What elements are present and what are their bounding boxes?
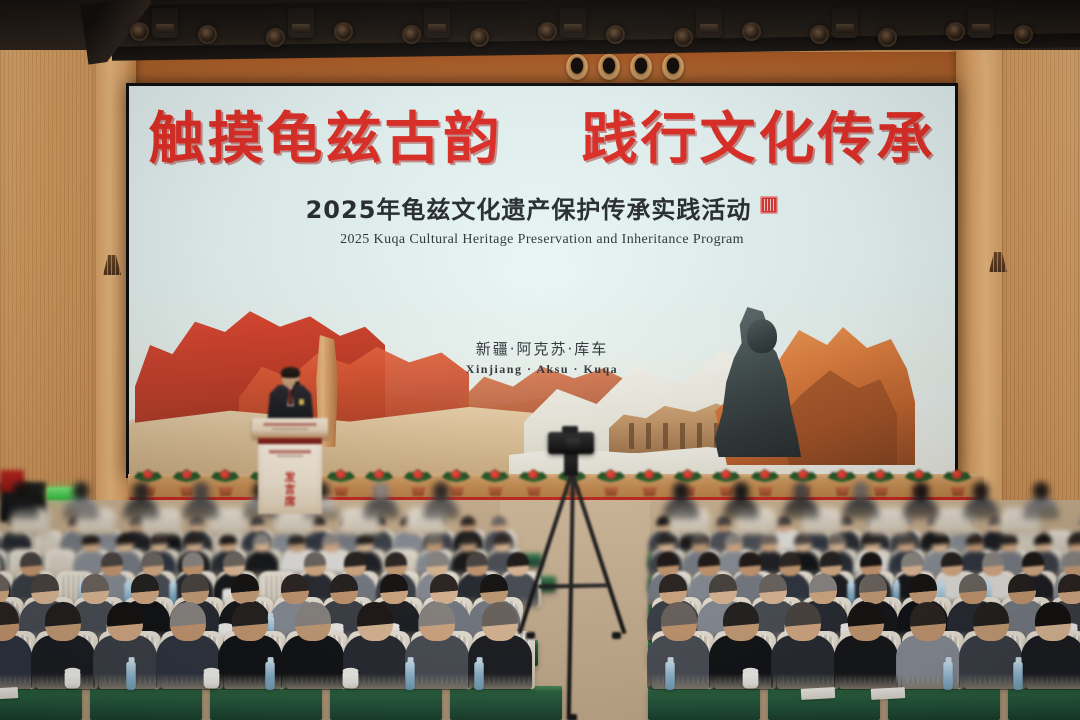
stage-par-light-icon <box>968 8 994 38</box>
audience-person-back-row <box>64 482 98 516</box>
person-head <box>1035 602 1071 641</box>
red-seal-stamp-icon <box>760 196 778 214</box>
person-head <box>150 533 168 552</box>
stage-par-light-icon <box>832 8 858 38</box>
person-head <box>101 552 123 576</box>
audience-table <box>90 686 202 720</box>
screen-subtitle-cn-row: 2025年龟兹文化遗产保护传承实践活动 <box>129 190 955 225</box>
ceiling-spotlight-icon <box>266 28 285 47</box>
person-body <box>183 497 219 519</box>
audience-person-back-row <box>784 482 818 516</box>
audience-person-back-row <box>4 482 38 516</box>
person-head <box>430 574 458 604</box>
person-head <box>482 602 518 641</box>
person-head <box>426 552 448 576</box>
person-head <box>181 574 209 604</box>
speaker-podium: 发 言 席 <box>252 418 328 514</box>
person-head <box>20 552 42 576</box>
person-head <box>461 516 476 532</box>
person-head <box>759 574 787 604</box>
person-body <box>63 497 99 519</box>
person-head <box>863 533 881 552</box>
person-head <box>691 533 709 552</box>
person-head <box>13 482 29 499</box>
person-head <box>480 574 508 604</box>
microphone-icon <box>295 381 300 386</box>
person-body <box>903 497 939 519</box>
person-head <box>848 602 884 641</box>
ceiling-spotlight-icon <box>198 25 217 44</box>
stage-potted-plant <box>479 468 511 496</box>
person-head <box>809 574 837 604</box>
audience-person <box>962 602 1019 689</box>
person-head <box>793 482 809 499</box>
audience-person-back-row <box>844 482 878 516</box>
ceiling-spotlight-icon <box>674 28 693 47</box>
person-head <box>657 533 675 552</box>
person-body <box>363 497 399 519</box>
wall-sconce-icon-right <box>989 252 1007 272</box>
person-head <box>170 602 206 641</box>
screen-location-cn: 新疆·阿克苏·库车 <box>129 338 955 359</box>
person-body <box>0 635 32 690</box>
audience-person-back-row <box>904 482 938 516</box>
person-head <box>491 516 506 532</box>
person-head <box>1008 574 1036 604</box>
stage-par-light-icon <box>152 8 178 38</box>
person-body <box>723 497 759 519</box>
person-head <box>659 574 687 604</box>
water-bottle <box>405 662 414 690</box>
person-body <box>423 497 459 519</box>
water-bottle <box>1013 662 1022 690</box>
person-head <box>231 574 259 604</box>
person-head <box>1063 552 1080 576</box>
person-head <box>661 602 697 641</box>
person-head <box>779 552 801 576</box>
stage-par-light-icon <box>288 8 314 38</box>
person-head <box>909 574 937 604</box>
ceiling-spotlight-icon <box>130 22 149 41</box>
person-head <box>73 482 89 499</box>
person-head <box>219 533 237 552</box>
person-head <box>820 552 842 576</box>
person-head <box>116 533 134 552</box>
audience-table <box>330 686 442 720</box>
person-head <box>193 482 209 499</box>
person-body <box>31 635 95 690</box>
audience-person <box>650 602 707 689</box>
person-head <box>0 552 1 576</box>
person-head <box>81 574 109 604</box>
water-bottle <box>665 662 674 690</box>
ceiling-spotlight-icon <box>742 22 761 41</box>
audience-table <box>648 686 760 720</box>
audience-person <box>284 602 341 689</box>
person-body <box>843 497 879 519</box>
audience-person <box>409 602 466 689</box>
person-head <box>0 574 9 604</box>
person-body <box>405 635 469 690</box>
person-head <box>931 533 949 552</box>
person-head <box>673 482 689 499</box>
stage-par-light-icon <box>696 8 722 38</box>
person-head <box>966 533 984 552</box>
person-head <box>973 482 989 499</box>
conference-hall-photo: 触摸龟兹古韵 践行文化传承 2025年龟兹文化遗产保护传承实践活动 2025 K… <box>0 0 1080 720</box>
person-body <box>281 635 345 690</box>
person-head <box>657 552 679 576</box>
person-body <box>647 635 711 690</box>
person-head <box>466 552 488 576</box>
person-head <box>373 482 389 499</box>
audience-person-back-row <box>364 482 398 516</box>
audience-person <box>837 602 894 689</box>
person-head <box>698 552 720 576</box>
person-head <box>941 552 963 576</box>
person-body <box>1021 635 1080 690</box>
person-head <box>253 533 271 552</box>
person-head <box>322 533 340 552</box>
person-head <box>385 552 407 576</box>
person-head <box>295 602 331 641</box>
person-body <box>709 635 773 690</box>
led-stage-screen: 触摸龟兹古韵 践行文化传承 2025年龟兹文化遗产保护传承实践活动 2025 K… <box>126 83 958 478</box>
person-head <box>344 552 366 576</box>
wall-sconce-icon-left <box>103 255 121 275</box>
ceiling-spotlight-icon <box>334 22 353 41</box>
audience-person-back-row <box>724 482 758 516</box>
person-head <box>1000 533 1018 552</box>
person-head <box>380 574 408 604</box>
ceiling-spotlight-icon <box>878 28 897 47</box>
podium-logo <box>267 450 313 460</box>
person-head <box>897 533 915 552</box>
person-head <box>709 574 737 604</box>
audience-person <box>775 602 832 689</box>
person-head <box>723 602 759 641</box>
audience-person-back-row <box>184 482 218 516</box>
person-head <box>223 552 245 576</box>
person-head <box>433 482 449 499</box>
screen-location-en: Xinjiang · Aksu · Kuqa <box>129 362 955 377</box>
ceiling-spotlight-icon <box>810 25 829 44</box>
person-head <box>1033 482 1049 499</box>
person-head <box>185 533 203 552</box>
water-bottle <box>474 662 483 690</box>
ceiling-spotlight-icon <box>538 22 557 41</box>
water-bottle <box>266 662 275 690</box>
ceiling-speaker-icon <box>566 54 588 80</box>
audience-person <box>1024 602 1080 689</box>
podium-sign-fayanxi: 发 言 席 <box>278 470 302 510</box>
ceiling-spotlight-icon <box>606 25 625 44</box>
person-head <box>1022 552 1044 576</box>
video-camera-tripod <box>520 432 626 720</box>
video-camera-icon <box>548 432 594 454</box>
person-head <box>142 552 164 576</box>
paper-cup <box>742 671 758 688</box>
audience-person <box>0 602 29 689</box>
person-head <box>425 533 443 552</box>
water-bottle <box>944 662 953 690</box>
audience-person-back-row <box>1024 482 1058 516</box>
water-bottle <box>126 662 135 690</box>
screen-subtitle-cn: 2025年龟兹文化遗产保护传承实践活动 <box>306 196 752 224</box>
person-head <box>1034 533 1052 552</box>
person-head <box>860 552 882 576</box>
person-body <box>1023 497 1059 519</box>
person-head <box>910 602 946 641</box>
screen-main-title: 触摸龟兹古韵 践行文化传承 <box>129 112 955 168</box>
conference-booklet <box>801 687 836 700</box>
person-head <box>982 552 1004 576</box>
person-head <box>973 602 1009 641</box>
person-body <box>663 497 699 519</box>
person-head <box>288 533 306 552</box>
screen-location-block: 新疆·阿克苏·库车 Xinjiang · Aksu · Kuqa <box>129 338 955 377</box>
person-head <box>760 533 778 552</box>
person-head <box>1068 533 1080 552</box>
conference-booklet <box>871 687 906 700</box>
person-head <box>131 574 159 604</box>
person-head <box>959 574 987 604</box>
ceiling-speaker-icon <box>598 54 620 80</box>
person-head <box>281 574 309 604</box>
person-head <box>107 602 143 641</box>
person-head <box>182 552 204 576</box>
person-head <box>356 533 374 552</box>
person-head <box>859 574 887 604</box>
person-head <box>913 482 929 499</box>
person-head <box>785 602 821 641</box>
audience-table <box>210 686 322 720</box>
person-body <box>123 497 159 519</box>
person-body <box>963 497 999 519</box>
person-head <box>733 482 749 499</box>
ceiling-speaker-icon <box>662 54 684 80</box>
ceiling-spotlight-icon <box>1014 25 1033 44</box>
person-head <box>828 533 846 552</box>
ceiling-speaker-icon <box>630 54 652 80</box>
person-head <box>901 552 923 576</box>
audience-person <box>34 602 91 689</box>
person-body <box>3 497 39 519</box>
person-head <box>853 482 869 499</box>
person-head <box>459 533 477 552</box>
person-head <box>232 602 268 641</box>
stage-potted-plant <box>633 468 665 496</box>
person-head <box>739 552 761 576</box>
stage-par-light-icon <box>424 8 450 38</box>
speaker-person <box>265 368 315 424</box>
paper-cup <box>343 671 359 688</box>
person-head <box>794 533 812 552</box>
person-body <box>771 635 835 690</box>
stage-par-light-icon <box>560 8 586 38</box>
title-part-2: 践行文化传承 <box>582 107 936 172</box>
person-head <box>330 574 358 604</box>
ceiling-spotlight-icon <box>402 25 421 44</box>
person-head <box>725 533 743 552</box>
person-body <box>834 635 898 690</box>
conference-booklet <box>0 687 18 700</box>
person-head <box>493 533 511 552</box>
audience-person-back-row <box>124 482 158 516</box>
title-part-1: 触摸龟兹古韵 <box>149 107 503 172</box>
paper-cup <box>203 671 219 688</box>
audience-person-back-row <box>664 482 698 516</box>
person-head <box>357 602 393 641</box>
audience-person-back-row <box>964 482 998 516</box>
person-head <box>304 552 326 576</box>
ceiling-spotlight-icon <box>470 28 489 47</box>
audience-person-back-row <box>424 482 458 516</box>
paper-cup <box>64 671 80 688</box>
person-head <box>419 602 455 641</box>
person-head <box>133 482 149 499</box>
screen-subtitle-en: 2025 Kuqa Cultural Heritage Preservation… <box>129 232 955 248</box>
person-head <box>45 602 81 641</box>
person-body <box>783 497 819 519</box>
ceiling-spotlight-icon <box>946 22 965 41</box>
screen-title-block: 触摸龟兹古韵 践行文化传承 2025年龟兹文化遗产保护传承实践活动 2025 K… <box>129 112 955 248</box>
person-head <box>31 574 59 604</box>
audience-person <box>712 602 769 689</box>
person-head <box>82 533 100 552</box>
lapel-badge-icon <box>299 399 304 405</box>
audience-table <box>1008 686 1080 720</box>
person-head <box>1058 574 1080 604</box>
